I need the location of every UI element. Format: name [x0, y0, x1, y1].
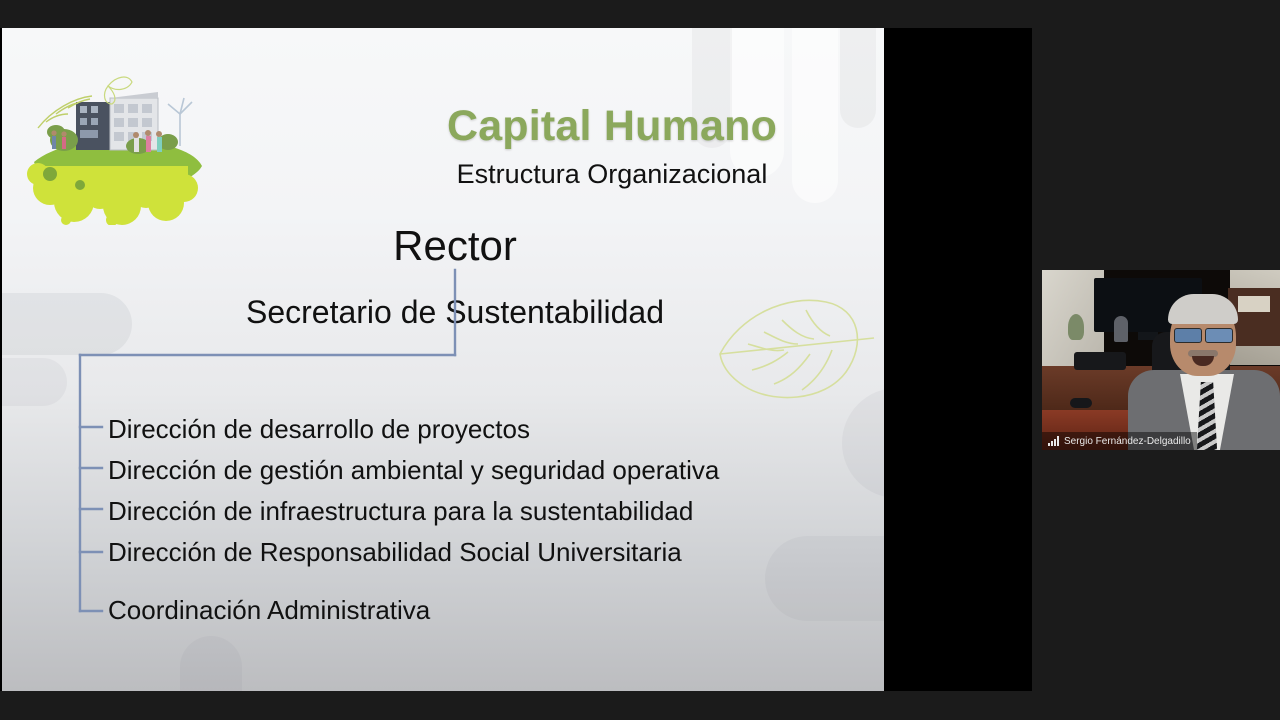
meeting-screen-share-view: Capital Humano Estructura Organizacional… [0, 0, 1280, 720]
org-chart-list: Dirección de desarrollo de proyectos Dir… [108, 409, 848, 631]
deco-pill-left-bottom [2, 358, 67, 406]
office-desk-object [1074, 352, 1126, 370]
campus-sustainability-logo [16, 70, 212, 225]
deco-pill-bottom-left [180, 636, 242, 691]
org-list-item: Dirección de Responsabilidad Social Univ… [108, 532, 848, 573]
org-list-item: Dirección de infraestructura para la sus… [108, 491, 848, 532]
presentation-slide[interactable]: Capital Humano Estructura Organizacional… [2, 28, 884, 691]
office-plant [1068, 314, 1084, 340]
participant-name: Sergio Fernández-Delgadillo [1064, 436, 1191, 447]
office-statue [1114, 316, 1128, 342]
slide-subtitle: Estructura Organizacional [362, 159, 862, 190]
deco-pill-left-top [2, 293, 132, 355]
org-list-item: Dirección de gestión ambiental y segurid… [108, 450, 848, 491]
person-glasses-left [1174, 328, 1202, 343]
org-list-item: Dirección de desarrollo de proyectos [108, 409, 848, 450]
slide-title: Capital Humano [362, 102, 862, 151]
office-shelf-item [1238, 296, 1270, 312]
participant-video-tile[interactable]: Sergio Fernández-Delgadillo [1042, 270, 1280, 450]
org-node-rector: Rector [202, 222, 708, 270]
org-list-item: Coordinación Administrativa [108, 590, 848, 631]
org-node-secretario: Secretario de Sustentabilidad [202, 294, 708, 331]
person-glasses-right [1205, 328, 1233, 343]
participant-name-bar: Sergio Fernández-Delgadillo [1042, 432, 1197, 450]
leaf-decoration-icon [714, 286, 880, 406]
person-hair [1168, 294, 1238, 324]
signal-bars-icon [1048, 436, 1059, 446]
office-mouse [1070, 398, 1092, 408]
